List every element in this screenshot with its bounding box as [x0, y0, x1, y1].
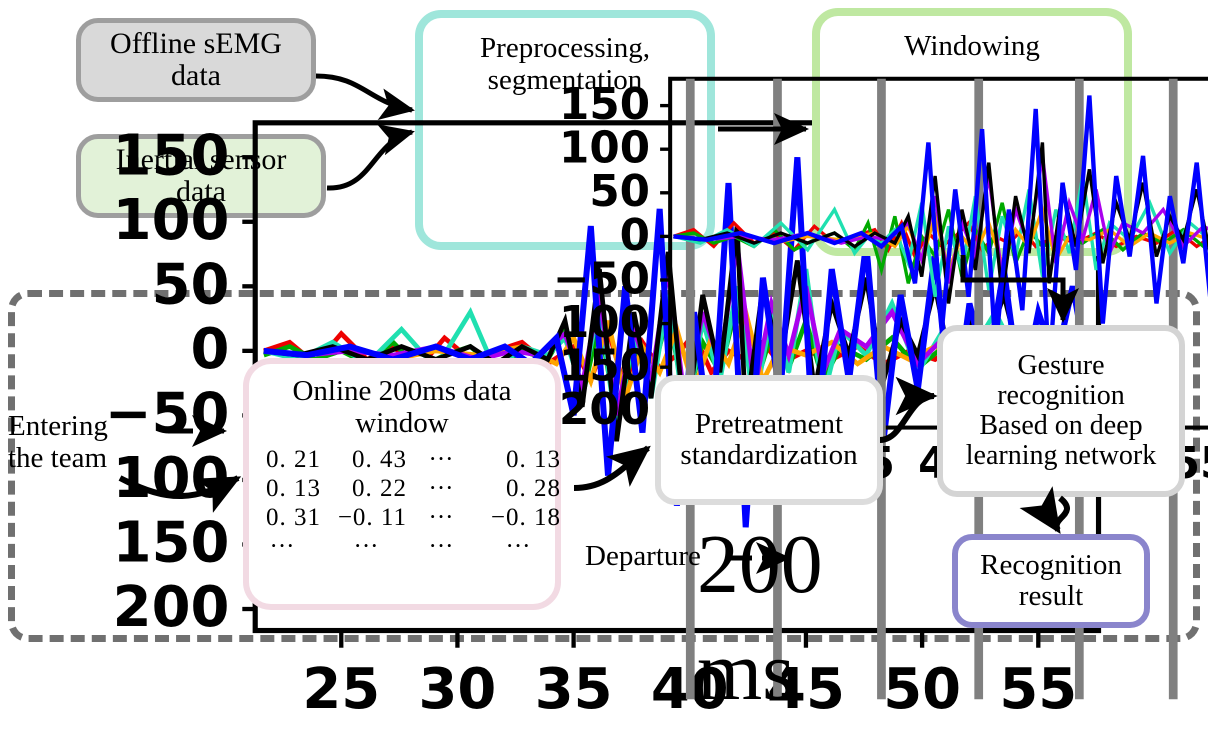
y-tick-label: 150	[559, 80, 650, 130]
matrix-cell: ···	[411, 446, 471, 473]
node-label-line: result	[1019, 581, 1083, 612]
node-gesture-recognition[interactable]: Gesture recognition Based on deep learni…	[937, 325, 1185, 497]
node-pretreatment-standardization[interactable]: Pretreatment standardization	[655, 375, 883, 505]
y-tick-label: 50	[589, 168, 650, 218]
node-online-data-window[interactable]: Online 200ms data window 0. 21 0. 43 ···…	[243, 358, 561, 610]
node-offline-semg-data[interactable]: Offline sEMG data	[76, 18, 316, 102]
node-label-line: standardization	[680, 440, 857, 471]
matrix-cell: −0. 18	[475, 504, 561, 531]
node-label-line: recognition	[997, 381, 1125, 411]
matrix-cell: 0. 31	[243, 504, 321, 531]
node-label-line: Pretreatment	[695, 409, 843, 440]
matrix-cell: ···	[243, 533, 321, 560]
node-label-line: Online 200ms data	[292, 376, 511, 408]
y-tick-label: 100	[113, 188, 230, 253]
y-tick-label: 100	[559, 298, 650, 348]
y-tick-label: 200	[559, 386, 650, 436]
matrix-cell: 0. 13	[475, 446, 561, 473]
matrix-cell: ···	[411, 533, 471, 560]
matrix-cell: 0. 28	[475, 475, 561, 502]
y-tick-label: 0	[620, 211, 650, 261]
node-label-line: window	[292, 408, 511, 440]
node-label-line: Recognition	[980, 550, 1122, 581]
y-tick-label: −50	[553, 255, 650, 305]
matrix-cell: ···	[411, 504, 471, 531]
matrix-cell: ···	[475, 533, 561, 560]
window-duration-unit: ms	[697, 626, 795, 719]
y-tick-label: 0	[190, 317, 229, 382]
matrix-cell: −0. 11	[325, 504, 407, 531]
y-tick-label: 150	[113, 123, 230, 188]
matrix-cell: ···	[411, 475, 471, 502]
node-windowing[interactable]: Windowing 150 100 50 0 −50 100 150 200	[812, 8, 1132, 256]
data-matrix: 0. 21 0. 43 ··· 0. 13 0. 13 0. 22 ··· 0.…	[243, 446, 561, 560]
y-tick-label: 200	[113, 575, 230, 640]
y-tick-label: 100	[559, 124, 650, 174]
node-label-line: data	[171, 60, 221, 92]
node-label-line: Based on deep	[979, 411, 1142, 441]
matrix-cell: 0. 13	[243, 475, 321, 502]
matrix-cell: 0. 22	[325, 475, 407, 502]
node-label-line: Offline sEMG	[110, 28, 282, 60]
y-tick-label: 50	[152, 252, 230, 317]
window-duration-label: 200	[697, 518, 823, 611]
label-departure: Departure	[585, 540, 701, 572]
y-tick-label: 150	[559, 342, 650, 392]
label-entering-the-team: Entering the team	[8, 410, 168, 475]
node-title: Windowing	[904, 30, 1040, 62]
flowchart-canvas: Offline sEMG data Inertial sensor data P…	[0, 0, 1208, 654]
node-label-line: Preprocessing,	[480, 32, 650, 64]
node-recognition-result[interactable]: Recognition result	[952, 534, 1150, 628]
matrix-cell: 0. 43	[325, 446, 407, 473]
label-line: the team	[8, 442, 168, 474]
matrix-cell: 0. 21	[243, 446, 321, 473]
node-label-line: Gesture	[1017, 351, 1104, 381]
y-tick-label: 150	[113, 511, 230, 576]
node-title: Online 200ms data window	[292, 376, 511, 440]
matrix-cell: ···	[325, 533, 407, 560]
node-label-line: learning network	[966, 441, 1157, 471]
label-line: Entering	[8, 410, 168, 442]
